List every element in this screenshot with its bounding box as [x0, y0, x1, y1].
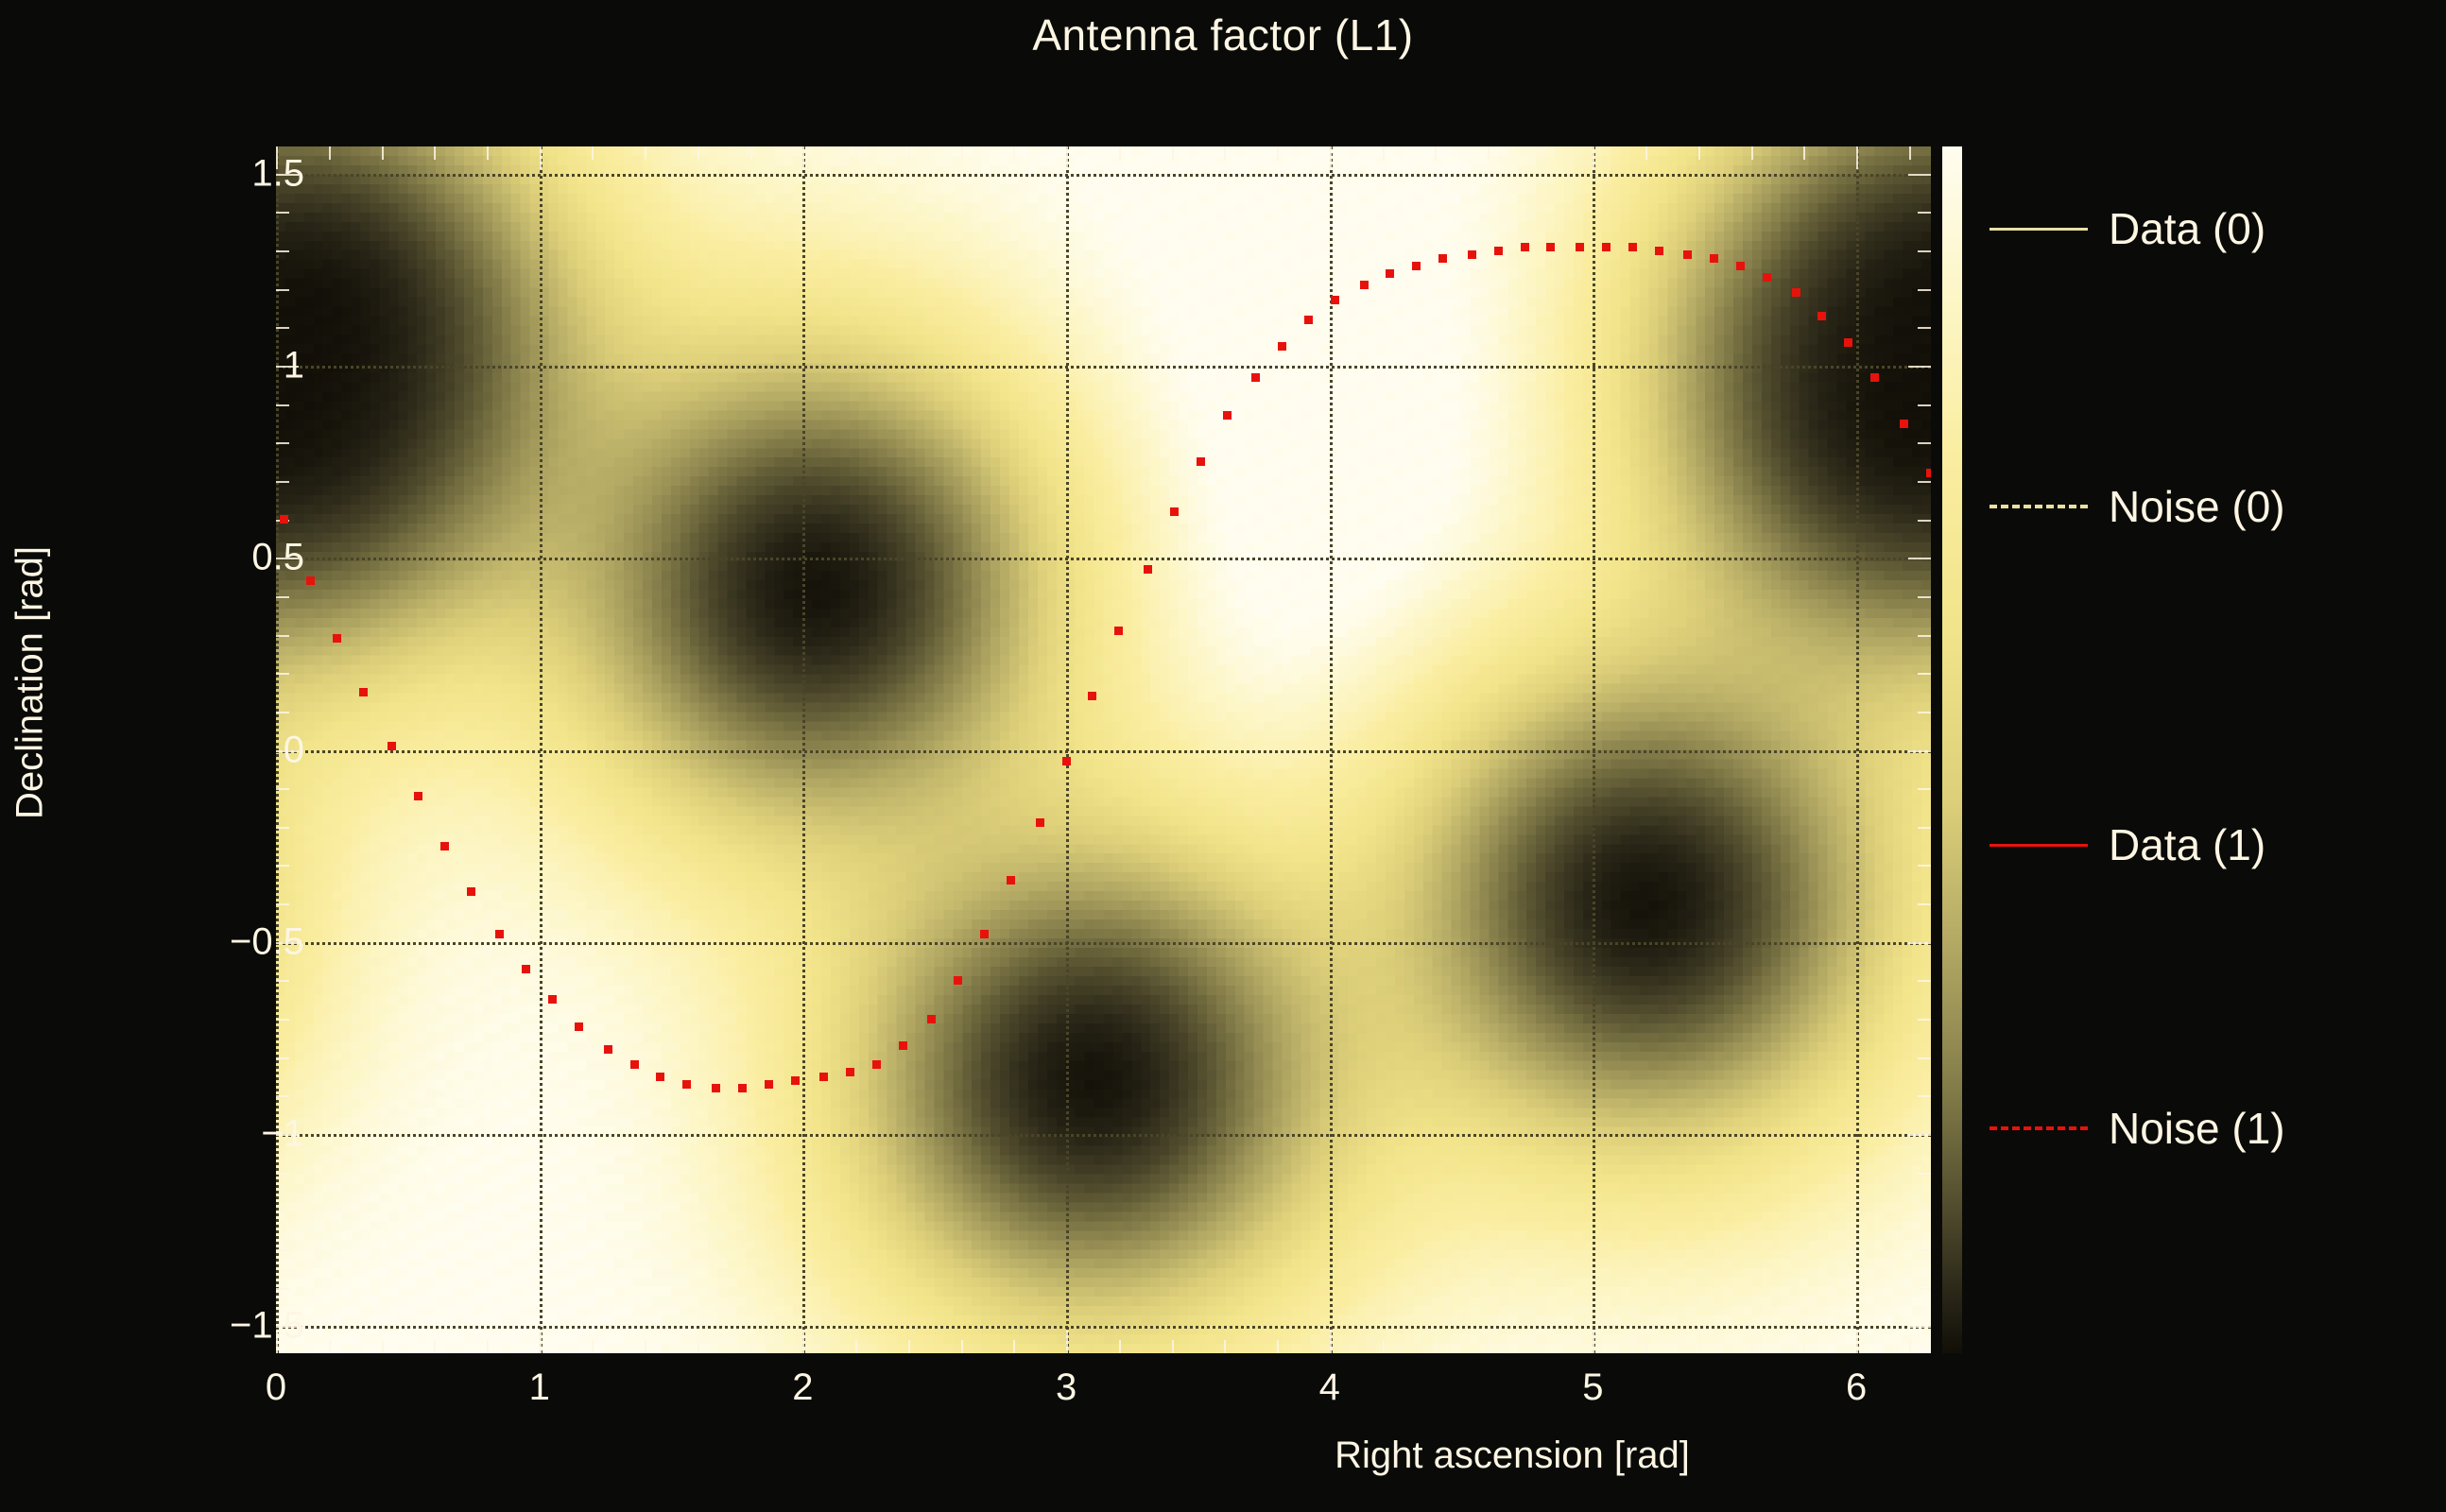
heatmap-image — [276, 146, 1931, 1353]
y-tick-label: 1 — [284, 345, 304, 387]
legend: Data (0)Noise (0)Data (1)Noise (1) — [1990, 146, 2434, 1353]
y-tick-label: 0.5 — [251, 537, 304, 579]
x-tick-label: 4 — [1319, 1366, 1340, 1409]
x-axis-label: Right ascension [rad] — [1040, 1435, 1985, 1477]
x-tick-label: 3 — [1056, 1366, 1077, 1409]
legend-item-noise-0[interactable]: Noise (0) — [1990, 478, 2434, 535]
plot-canvas: Antenna factor (L1) Declination [rad] Ri… — [0, 0, 2446, 1512]
legend-dashed-line-icon — [1990, 505, 2088, 508]
legend-solid-line-icon — [1990, 228, 2088, 231]
x-tick-label: 1 — [529, 1366, 550, 1409]
y-tick-label: −1 — [261, 1113, 304, 1156]
legend-item-data-1[interactable]: Data (1) — [1990, 816, 2434, 873]
legend-dashed-line-icon — [1990, 1126, 2088, 1130]
y-tick-label: −1.5 — [230, 1305, 304, 1348]
x-tick-label: 6 — [1846, 1366, 1867, 1409]
legend-solid-line-icon — [1990, 844, 2088, 847]
x-tick-label: 0 — [266, 1366, 286, 1409]
y-tick-label: 0 — [284, 729, 304, 771]
chart-title: Antenna factor (L1) — [0, 9, 2446, 60]
legend-label: Data (0) — [2109, 207, 2265, 250]
legend-label: Data (1) — [2109, 823, 2265, 867]
x-tick-label: 5 — [1582, 1366, 1603, 1409]
legend-label: Noise (1) — [2109, 1107, 2285, 1150]
y-axis-label: Declination [rad] — [9, 390, 52, 976]
y-tick-label: −0.5 — [230, 920, 304, 963]
colorbar — [1942, 146, 1962, 1353]
x-tick-label: 2 — [792, 1366, 813, 1409]
legend-label: Noise (0) — [2109, 485, 2285, 528]
legend-item-data-0[interactable]: Data (0) — [1990, 200, 2434, 257]
legend-item-noise-1[interactable]: Noise (1) — [1990, 1100, 2434, 1157]
plot-area — [276, 146, 1931, 1353]
y-tick-label: 1.5 — [251, 152, 304, 195]
